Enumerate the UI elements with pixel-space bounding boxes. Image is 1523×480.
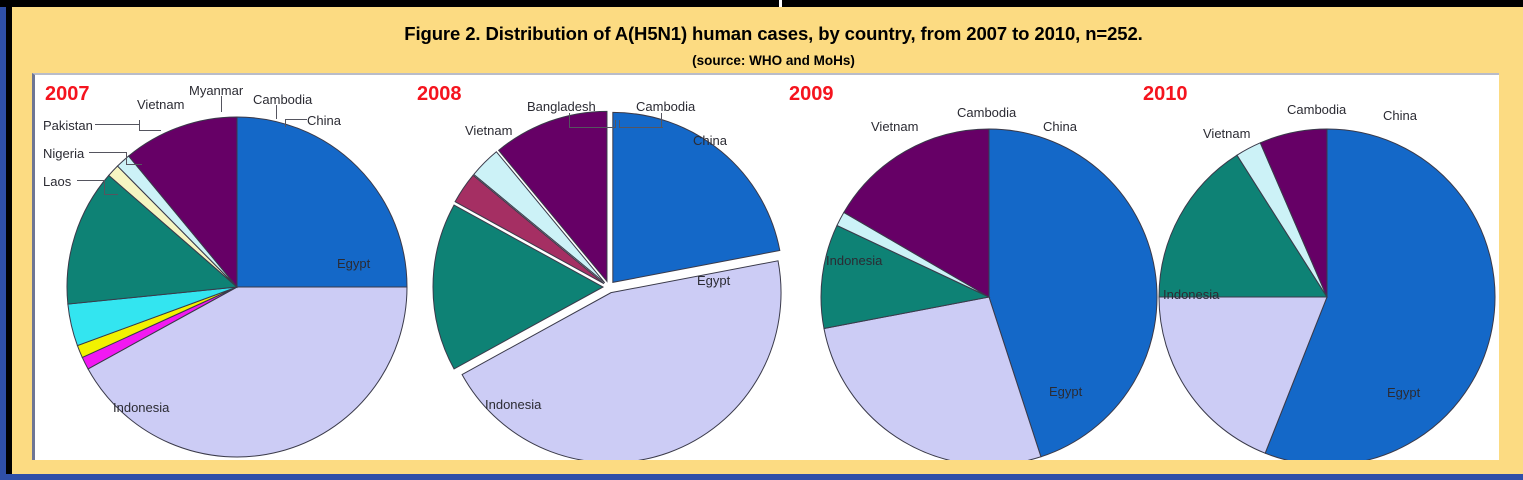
leader-line: [221, 96, 222, 112]
slice-label-vietnam: Vietnam: [1203, 126, 1250, 141]
leader-line: [619, 120, 620, 128]
slice-label-china: China: [693, 133, 727, 148]
slice-label-egypt: Egypt: [1387, 385, 1420, 400]
figure-caption-block: Figure 2. Distribution of A(H5N1) human …: [18, 13, 1523, 71]
top-white-tick-marker: [779, 0, 782, 7]
page-title: Figure 2. Distribution of A(H5N1) human …: [18, 13, 1523, 44]
leader-line: [95, 124, 140, 125]
top-black-bar: [0, 0, 1523, 7]
slice-label-vietnam: Vietnam: [871, 119, 918, 134]
figure-inner-background: Figure 2. Distribution of A(H5N1) human …: [12, 6, 1523, 474]
slice-label-laos: Laos: [43, 174, 71, 189]
leader-line: [89, 152, 127, 153]
slice-label-nigeria: Nigeria: [43, 146, 84, 161]
slice-label-indonesia: Indonesia: [1163, 287, 1219, 302]
leader-line: [285, 119, 286, 127]
slice-label-vietnam: Vietnam: [465, 123, 512, 138]
pie-chart-2007: 2007VietnamMyanmarCambodiaChinaPakistanN…: [37, 75, 409, 460]
slice-label-indonesia: Indonesia: [485, 397, 541, 412]
slice-label-myanmar: Myanmar: [189, 83, 243, 98]
figure-frame: Figure 2. Distribution of A(H5N1) human …: [0, 0, 1523, 480]
leader-line: [569, 127, 615, 128]
slice-label-cambodia: Cambodia: [1287, 102, 1346, 117]
leader-line: [139, 130, 161, 131]
leader-line: [619, 127, 663, 128]
leader-line: [126, 164, 142, 165]
slice-label-china: China: [1383, 108, 1417, 123]
leader-line: [104, 180, 105, 194]
slice-label-egypt: Egypt: [1049, 384, 1082, 399]
slice-label-china: China: [1043, 119, 1077, 134]
pie-chart-2008: 2008VietnamBangladeshCambodiaChinaEgyptI…: [409, 75, 781, 460]
leader-line: [139, 120, 140, 130]
leader-line: [661, 113, 662, 127]
figure-source: (source: WHO and MoHs): [18, 44, 1523, 68]
slice-label-cambodia: Cambodia: [636, 99, 695, 114]
leader-line: [285, 119, 307, 120]
leader-line: [276, 105, 277, 119]
slice-label-cambodia: Cambodia: [957, 105, 1016, 120]
slice-label-cambodia: Cambodia: [253, 92, 312, 107]
leader-line: [104, 194, 118, 195]
slice-label-bangladesh: Bangladesh: [527, 99, 596, 114]
slice-label-indonesia: Indonesia: [826, 253, 882, 268]
pie-chart-2010: 2010VietnamCambodiaChinaEgyptIndonesia: [1135, 75, 1495, 460]
leader-line: [569, 113, 570, 127]
pie-svg-2010: [1135, 75, 1495, 460]
slice-label-china: China: [307, 113, 341, 128]
slice-label-egypt: Egypt: [697, 273, 730, 288]
leader-line: [615, 120, 616, 128]
pie-chart-2009: 2009VietnamCambodiaChinaEgyptIndonesia: [781, 75, 1153, 460]
pie-slice-egypt: [237, 117, 407, 287]
leader-line: [77, 180, 105, 181]
slice-label-pakistan: Pakistan: [43, 118, 93, 133]
leader-line: [126, 152, 127, 164]
charts-plot-area: 2007VietnamMyanmarCambodiaChinaPakistanN…: [32, 73, 1499, 460]
slice-label-indonesia: Indonesia: [113, 400, 169, 415]
slice-label-egypt: Egypt: [337, 256, 370, 271]
slice-label-vietnam: Vietnam: [137, 97, 184, 112]
